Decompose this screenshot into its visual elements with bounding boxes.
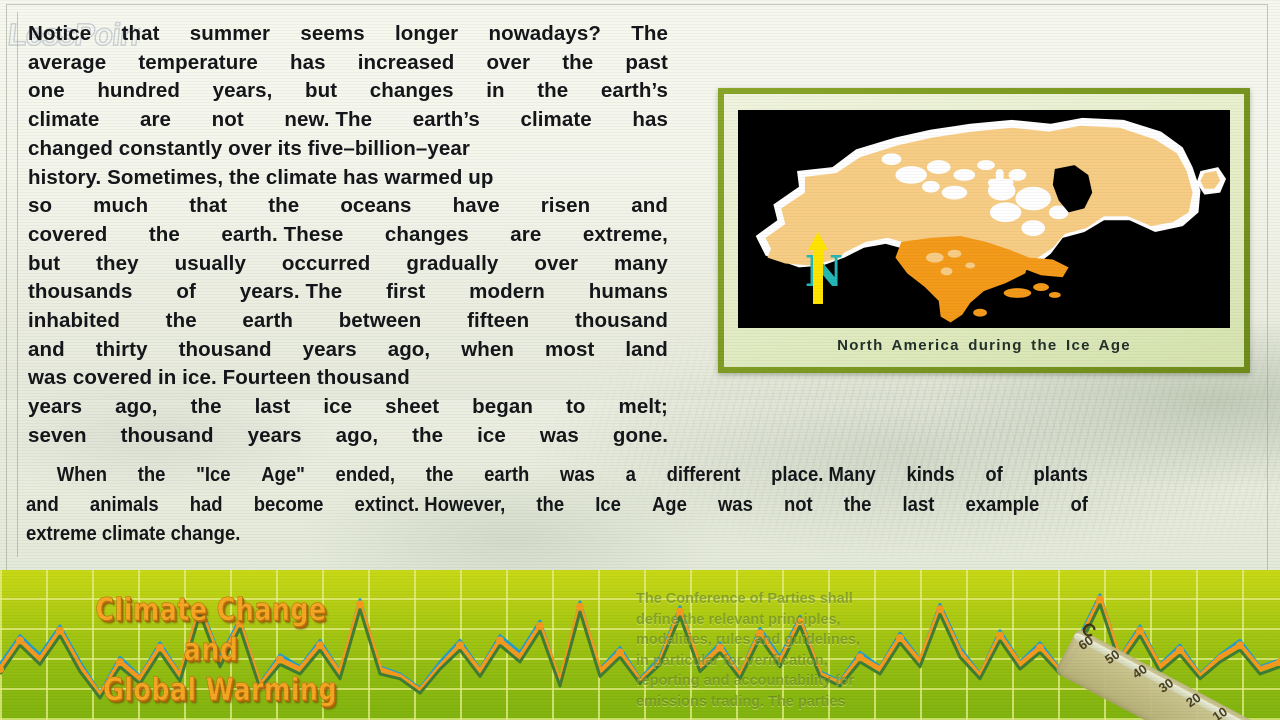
text-word: years, (213, 77, 273, 106)
text-word: and (26, 490, 59, 520)
text-word: earth (242, 307, 293, 336)
text-word: earth. These (221, 221, 343, 250)
text-word: the (149, 221, 180, 250)
text-word: thirty (96, 336, 148, 365)
text-word: the (138, 460, 166, 490)
text-word: past (625, 49, 668, 78)
text-word: first (386, 278, 425, 307)
text-word: thousands (28, 278, 133, 307)
text-word: last (255, 393, 291, 422)
text-word: has (290, 49, 326, 78)
paragraph-line: yearsago,thelasticesheetbegantomelt; (28, 393, 668, 422)
text-word: animals (90, 490, 159, 520)
paragraph-line: was covered in ice. Fourteen thousand (28, 364, 668, 393)
chart-data-point (536, 622, 544, 630)
text-word: gone. (613, 422, 668, 451)
text-word: has (632, 106, 668, 135)
text-word: thousand (575, 307, 668, 336)
text-word: place. Many (771, 460, 876, 490)
text-word: but (28, 250, 60, 279)
text-word: over (486, 49, 530, 78)
text-word: are (140, 106, 171, 135)
text-word: years (28, 393, 82, 422)
map-caption: North America during the Ice Age (738, 328, 1230, 363)
text-word: Ice (595, 490, 621, 520)
text-word: of (176, 278, 196, 307)
text-word: The (631, 20, 668, 49)
treaty-excerpt-text: The Conference of Parties shalldefine th… (636, 589, 936, 712)
left-margin-rule (17, 12, 18, 557)
text-word: the (166, 307, 197, 336)
text-word: had (190, 490, 223, 520)
text-word: temperature (138, 49, 258, 78)
text-word: occurred (282, 250, 371, 279)
text-word: seven (28, 422, 87, 451)
paragraph-line: buttheyusuallyoccurredgraduallyovermany (28, 250, 668, 279)
text-word: hundred (97, 77, 180, 106)
text-word: Age (652, 490, 687, 520)
text-word: modern (469, 278, 545, 307)
text-word: and (631, 192, 668, 221)
text-word: last (903, 490, 935, 520)
paragraph-line: Noticethatsummerseemslongernowadays?The (28, 20, 668, 49)
text-word: covered (28, 221, 107, 250)
chart-data-point (1036, 644, 1044, 652)
text-word: earth’s (601, 77, 668, 106)
chart-data-point (616, 648, 624, 656)
text-word: changes (385, 221, 469, 250)
text-word: the (191, 393, 222, 422)
paragraph-line: somuchthattheoceanshaverisenand (28, 192, 668, 221)
paragraph-line: history. Sometimes, the climate has warm… (28, 164, 668, 193)
text-word: not (212, 106, 244, 135)
text-word: new. The (284, 106, 372, 135)
text-word: of (1070, 490, 1087, 520)
text-word: risen (541, 192, 591, 221)
text-word: the (426, 460, 454, 490)
text-word: extreme, (583, 221, 668, 250)
text-word: the (537, 77, 568, 106)
slide-stage: LessPoint Noticethatsummerseemslongernow… (0, 0, 1280, 720)
text-word: ago, (115, 393, 158, 422)
thermometer-tick: 10 (1210, 704, 1230, 720)
text-word: ended, (336, 460, 395, 490)
chart-data-point (996, 632, 1004, 640)
paragraph-line: coveredtheearth. Thesechangesareextreme, (28, 221, 668, 250)
paragraph-line: averagetemperaturehasincreasedoverthepas… (28, 49, 668, 78)
treaty-line: emissions trading. The parties (636, 692, 936, 713)
treaty-line: reporting and accountability for (636, 671, 936, 692)
thermometer-tick: 50 (1102, 647, 1122, 668)
paragraph-line: Whenthe"IceAge"ended,theearthwasadiffere… (26, 460, 1088, 490)
text-word: many (614, 250, 668, 279)
text-word: example (965, 490, 1039, 520)
text-word: over (534, 250, 578, 279)
paragraph-line: andanimalshadbecomeextinct. However,theI… (26, 490, 1088, 520)
text-word: ice (477, 422, 506, 451)
map-canvas: N (738, 110, 1230, 328)
text-word: in (486, 77, 504, 106)
text-word: plants (1034, 460, 1088, 490)
text-word: one (28, 77, 65, 106)
text-word: began (472, 393, 533, 422)
text-word: the (562, 49, 593, 78)
title-line-2: Global Warming (92, 670, 348, 710)
text-word: to (566, 393, 586, 422)
text-word: different (667, 460, 741, 490)
slide-title: Climate Change and Global Warming (46, 590, 376, 710)
text-word: years. The (240, 278, 342, 307)
map-figure-mat: N North America during the Ice Age (724, 94, 1244, 367)
text-word: most (545, 336, 594, 365)
paragraph-line: thousandsofyears. Thefirstmodernhumans (28, 278, 668, 307)
treaty-line: define the relevant principles, (636, 610, 936, 631)
text-word: Age" (261, 460, 305, 490)
text-word: When (26, 460, 107, 490)
compass-north-arrow: N (796, 224, 848, 310)
text-word: oceans (340, 192, 411, 221)
text-word: changes (370, 77, 454, 106)
thermometer-tick: 40 (1129, 661, 1149, 682)
text-word: kinds (906, 460, 954, 490)
paragraph-line: onehundredyears,butchangesintheearth’s (28, 77, 668, 106)
text-word: average (28, 49, 106, 78)
text-word: earth (484, 460, 529, 490)
text-word: ice (323, 393, 352, 422)
paragraph-line: seventhousandyearsago,theicewasgone. (28, 422, 668, 451)
text-word: have (453, 192, 500, 221)
text-word: between (339, 307, 422, 336)
text-word: years (248, 422, 302, 451)
text-word: usually (175, 250, 246, 279)
text-word: when (461, 336, 514, 365)
compass-letter-n: N (805, 247, 843, 296)
text-word: the (268, 192, 299, 221)
text-word: earth’s (413, 106, 480, 135)
text-word: sheet (385, 393, 439, 422)
text-word: ago, (336, 422, 379, 451)
text-word: longer (395, 20, 458, 49)
text-word: climate (520, 106, 591, 135)
text-word: seems (300, 20, 364, 49)
text-word: gradually (406, 250, 498, 279)
chart-data-point (936, 605, 944, 613)
text-word: and (28, 336, 65, 365)
title-line-1: Climate Change and (76, 590, 347, 670)
chart-data-point (576, 603, 584, 611)
paragraph-line: andthirtythousandyearsago,whenmostland (28, 336, 668, 365)
text-word: Notice (28, 20, 91, 49)
text-word: was (540, 422, 579, 451)
text-word: but (305, 77, 337, 106)
chart-data-point (496, 636, 504, 644)
map-figure-frame: N North America during the Ice Age (718, 88, 1250, 373)
text-word: climate (28, 106, 99, 135)
text-word: the (844, 490, 872, 520)
text-word: was (718, 490, 753, 520)
treaty-line: The Conference of Parties shall (636, 589, 936, 610)
text-word: was (560, 460, 595, 490)
text-word: a (626, 460, 636, 490)
text-word: the (412, 422, 443, 451)
text-word: land (625, 336, 668, 365)
thermometer-tick: 20 (1183, 690, 1203, 711)
article-paragraph-one: Noticethatsummerseemslongernowadays?Thea… (28, 20, 668, 451)
treaty-line: modalities, rules and guidelines, (636, 630, 936, 651)
thermometer-graphic: 6050403020100 C (1068, 614, 1278, 720)
text-word: "Ice (196, 460, 230, 490)
text-word: that (122, 20, 160, 49)
text-word: thousand (121, 422, 214, 451)
text-word: much (93, 192, 148, 221)
paragraph-line: inhabitedtheearthbetweenfifteenthousand (28, 307, 668, 336)
chart-data-point (456, 641, 464, 649)
text-word: nowadays? (488, 20, 601, 49)
paragraph-line: climatearenotnew. Theearth’sclimatehas (28, 106, 668, 135)
chart-data-point (16, 636, 24, 644)
thermometer-scale: 6050403020100 (1060, 630, 1256, 720)
text-word: that (189, 192, 227, 221)
text-word: the (536, 490, 564, 520)
chart-data-point (1096, 596, 1104, 604)
text-word: inhabited (28, 307, 120, 336)
text-word: increased (358, 49, 455, 78)
text-word: summer (190, 20, 270, 49)
text-word: not (784, 490, 813, 520)
text-word: so (28, 192, 52, 221)
text-word: extinct. However, (355, 490, 506, 520)
text-word: humans (589, 278, 668, 307)
text-word: fifteen (467, 307, 529, 336)
text-word: years (303, 336, 357, 365)
text-word: thousand (179, 336, 272, 365)
text-word: are (510, 221, 541, 250)
text-word: of (985, 460, 1002, 490)
text-word: melt; (619, 393, 668, 422)
treaty-line: in particular for verification, (636, 651, 936, 672)
thermometer-tick: 30 (1156, 675, 1176, 696)
paragraph-line: changed constantly over its five–billion… (28, 135, 668, 164)
text-word: ago, (388, 336, 431, 365)
text-word: become (254, 490, 324, 520)
text-word: they (96, 250, 139, 279)
